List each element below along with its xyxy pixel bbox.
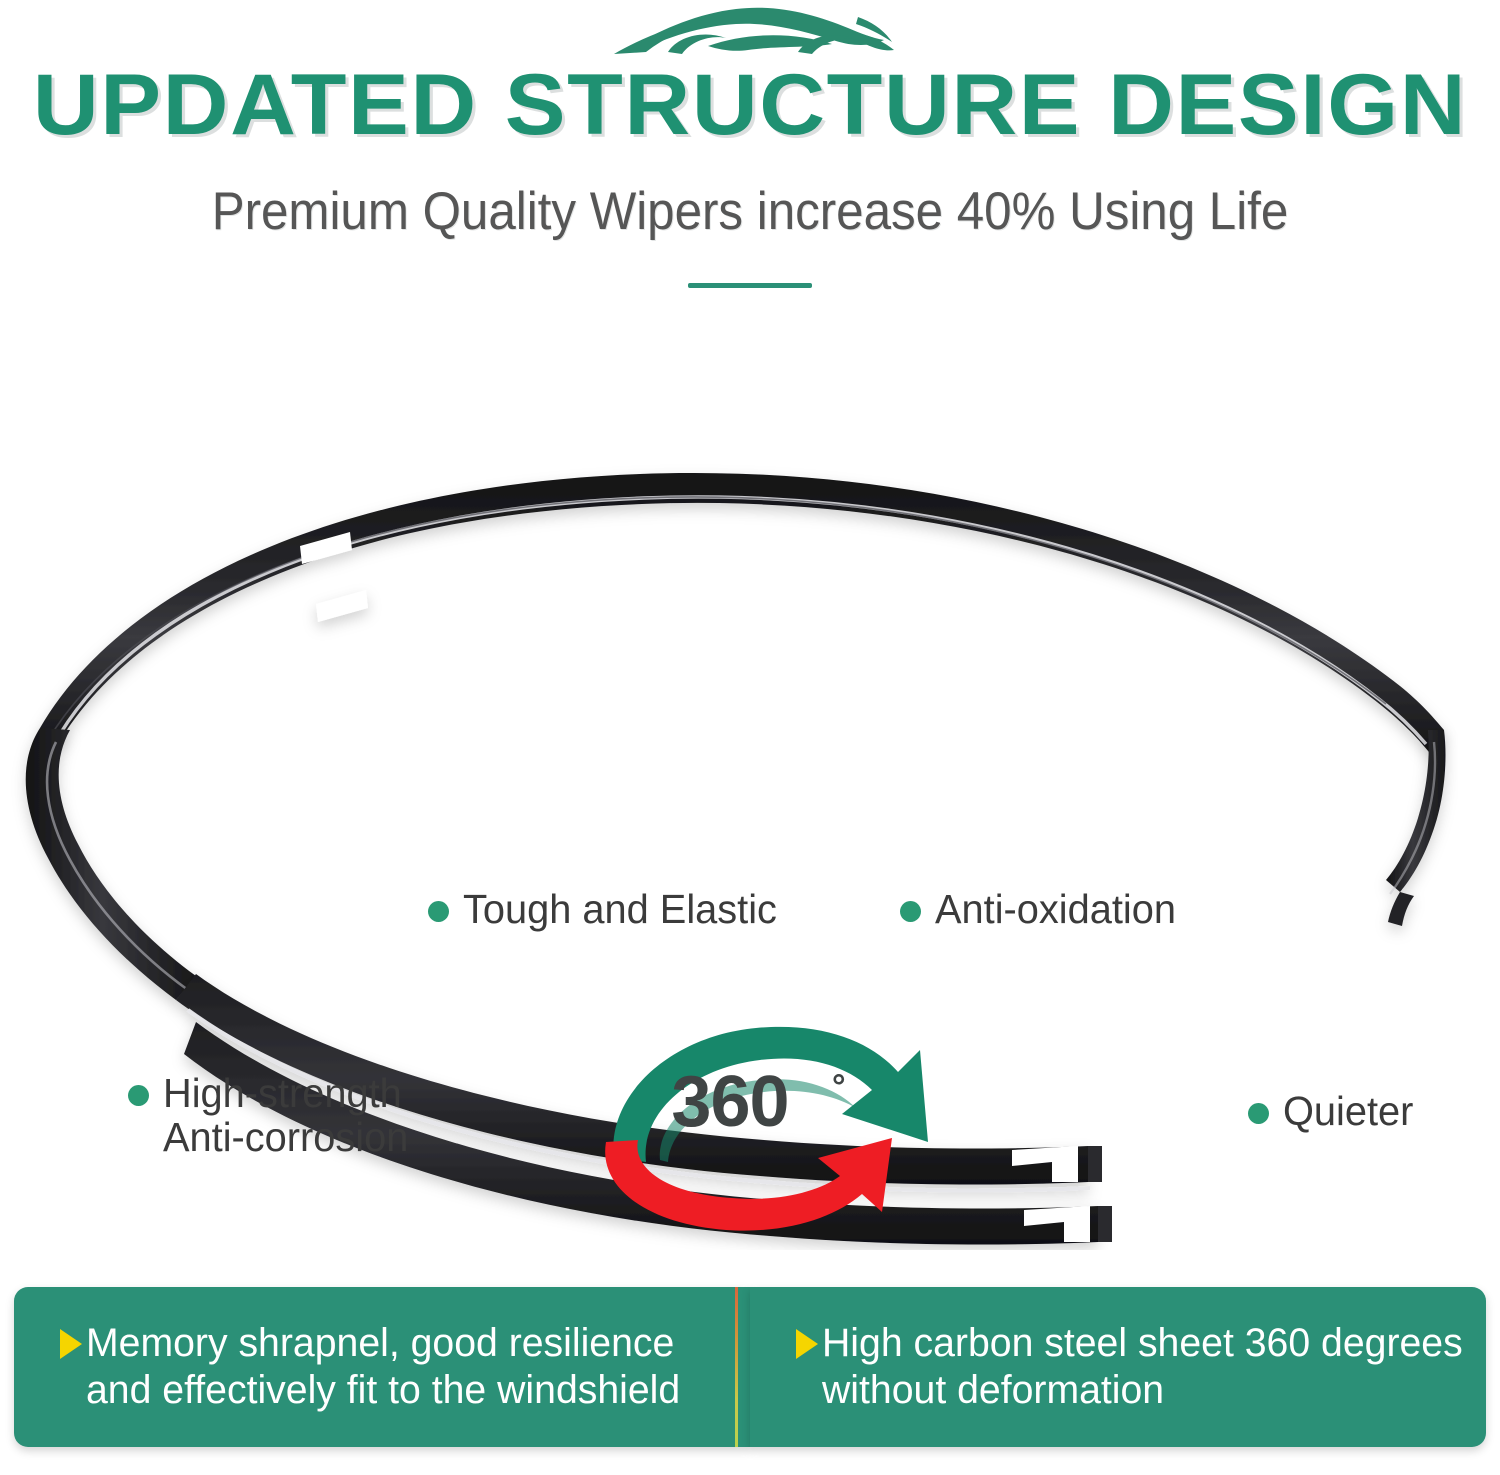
degree-symbol-icon: ° — [832, 1068, 846, 1107]
feature-label: Quieter — [1283, 1090, 1413, 1134]
feature-label: High-strength Anti-corrosion — [163, 1072, 408, 1160]
title-underline-divider — [688, 283, 812, 288]
sports-car-silhouette-icon — [608, 2, 898, 60]
triangle-bullet-icon — [60, 1329, 82, 1359]
triangle-bullet-icon — [796, 1329, 818, 1359]
feature-tough-and-elastic: Tough and Elastic — [428, 888, 787, 932]
banner-panel-memory-shrapnel: Memory shrapnel, good resilience and eff… — [14, 1287, 750, 1447]
banner-text: Memory shrapnel, good resilience and eff… — [86, 1320, 680, 1414]
feature-label: Anti-oxidation — [935, 888, 1176, 932]
feature-quieter: Quieter — [1248, 1090, 1417, 1134]
product-stage: 360 ° Tough and Elastic Anti-oxidation H… — [0, 310, 1500, 1250]
feature-high-strength-anti-corrosion: High-strength Anti-corrosion — [128, 1072, 416, 1160]
bottom-feature-banner: Memory shrapnel, good resilience and eff… — [14, 1287, 1486, 1447]
bullet-dot-icon — [428, 901, 449, 922]
header: UPDATED STRUCTURE DESIGN Premium Quality… — [0, 0, 1500, 300]
banner-panel-high-carbon-steel: High carbon steel sheet 360 degrees with… — [750, 1287, 1486, 1447]
bullet-dot-icon — [128, 1085, 149, 1106]
page-title: UPDATED STRUCTURE DESIGN — [0, 62, 1500, 148]
feature-anti-oxidation: Anti-oxidation — [900, 888, 1183, 932]
banner-divider — [735, 1287, 738, 1447]
bullet-dot-icon — [900, 901, 921, 922]
360-degree-badge: 360 ° — [580, 1010, 960, 1240]
feature-label: Tough and Elastic — [463, 888, 777, 932]
bullet-dot-icon — [1248, 1103, 1269, 1124]
banner-text: High carbon steel sheet 360 degrees with… — [822, 1320, 1463, 1414]
page-subtitle: Premium Quality Wipers increase 40% Usin… — [53, 183, 1448, 241]
